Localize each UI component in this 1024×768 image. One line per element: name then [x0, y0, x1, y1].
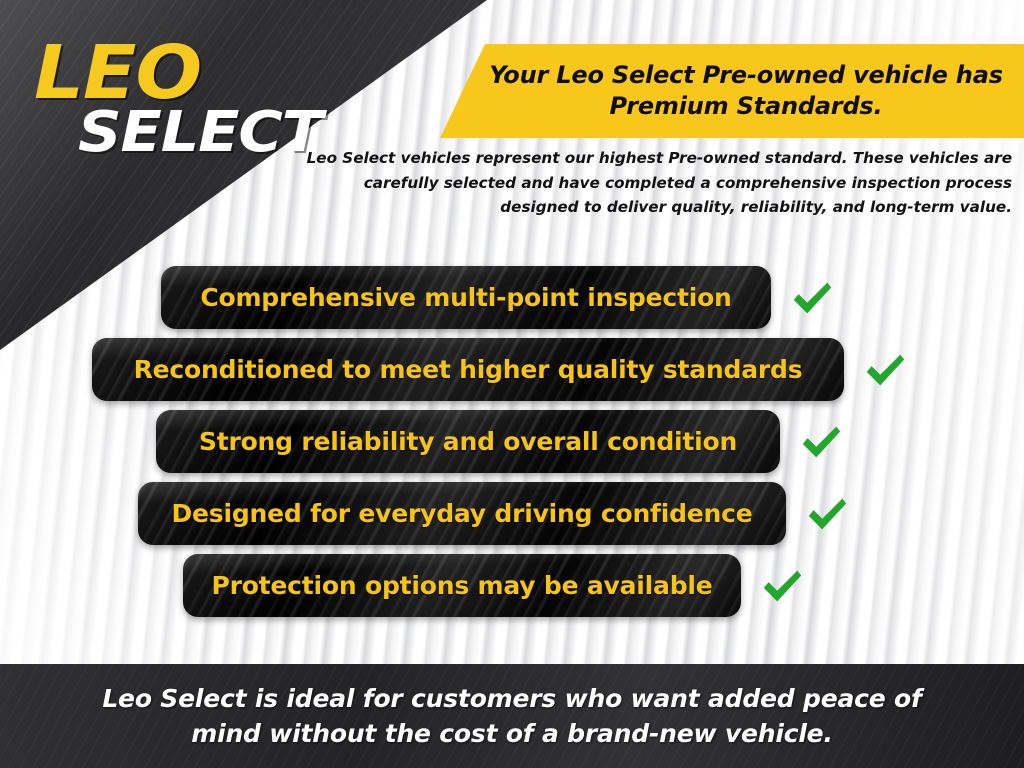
- feature-list: Comprehensive multi-point inspection Rec…: [0, 266, 1024, 626]
- feature-label: Designed for everyday driving confidence: [171, 501, 752, 526]
- check-icon: [804, 491, 850, 537]
- feature-label: Strong reliability and overall condition: [199, 429, 737, 454]
- footer-text: Leo Select is ideal for customers who wa…: [82, 681, 942, 752]
- check-icon: [789, 275, 835, 321]
- headline-text: Your Leo Select Pre-owned vehicle has Pr…: [481, 60, 1011, 121]
- logo-word-select: SELECT: [78, 108, 354, 158]
- footer-bar: Leo Select is ideal for customers who wa…: [0, 664, 1024, 768]
- leo-select-logo: LEO SELECT: [34, 42, 334, 159]
- intro-paragraph: Leo Select vehicles represent our highes…: [300, 146, 1012, 220]
- feature-pill-4[interactable]: Designed for everyday driving confidence: [138, 482, 786, 545]
- feature-row: Comprehensive multi-point inspection: [0, 266, 1010, 329]
- feature-label: Comprehensive multi-point inspection: [200, 285, 731, 310]
- check-icon: [862, 347, 908, 393]
- logo-word-leo: LEO: [34, 42, 352, 104]
- feature-row: Strong reliability and overall condition: [0, 410, 1012, 473]
- check-icon: [798, 419, 844, 465]
- check-icon: [759, 563, 805, 609]
- feature-pill-2[interactable]: Reconditioned to meet higher quality sta…: [92, 338, 844, 401]
- leo-select-poster: LEO SELECT Your Leo Select Pre-owned veh…: [0, 0, 1024, 768]
- feature-pill-5[interactable]: Protection options may be available: [183, 554, 741, 617]
- feature-pill-1[interactable]: Comprehensive multi-point inspection: [161, 266, 771, 329]
- feature-label: Reconditioned to meet higher quality sta…: [134, 357, 803, 382]
- feature-label: Protection options may be available: [211, 573, 712, 598]
- feature-row: Reconditioned to meet higher quality sta…: [0, 338, 1012, 401]
- feature-pill-3[interactable]: Strong reliability and overall condition: [156, 410, 780, 473]
- headline-banner: Your Leo Select Pre-owned vehicle has Pr…: [440, 44, 1024, 138]
- feature-row: Designed for everyday driving confidence: [0, 482, 1006, 545]
- feature-row: Protection options may be available: [0, 554, 1006, 617]
